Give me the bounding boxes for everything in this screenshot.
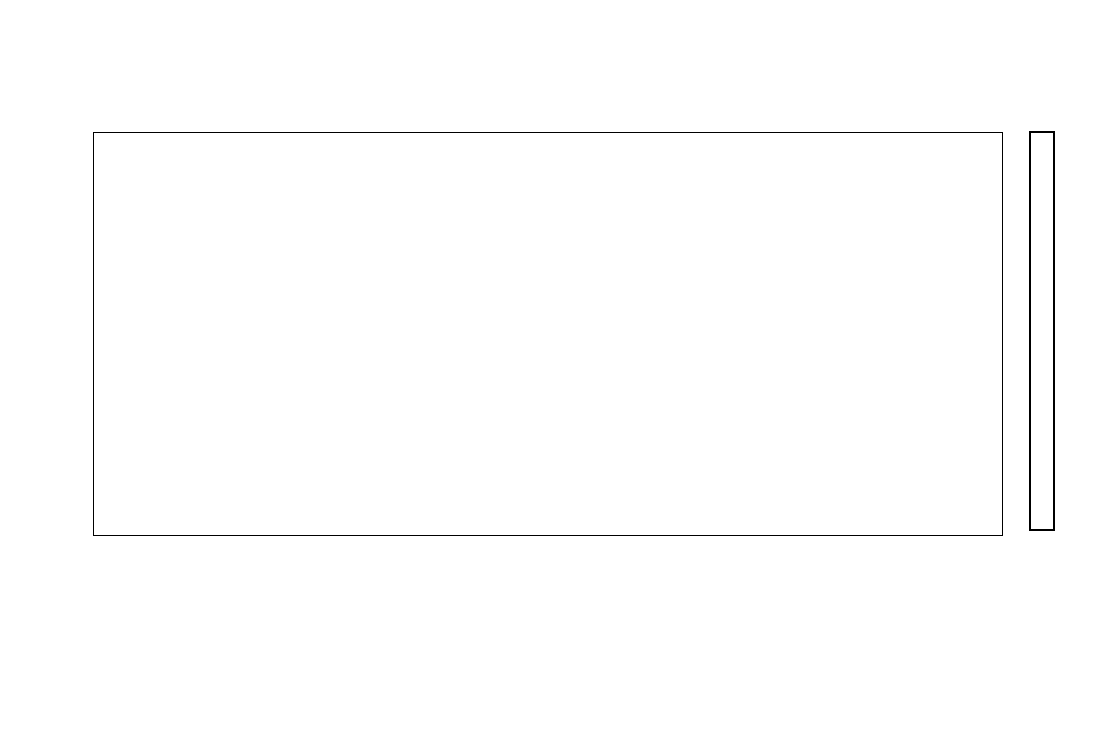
heatmap-plot-area: [93, 132, 1003, 536]
colorbar: [1029, 131, 1055, 531]
colorbar-canvas: [1031, 133, 1052, 528]
heatmap-canvas: [94, 133, 1001, 534]
